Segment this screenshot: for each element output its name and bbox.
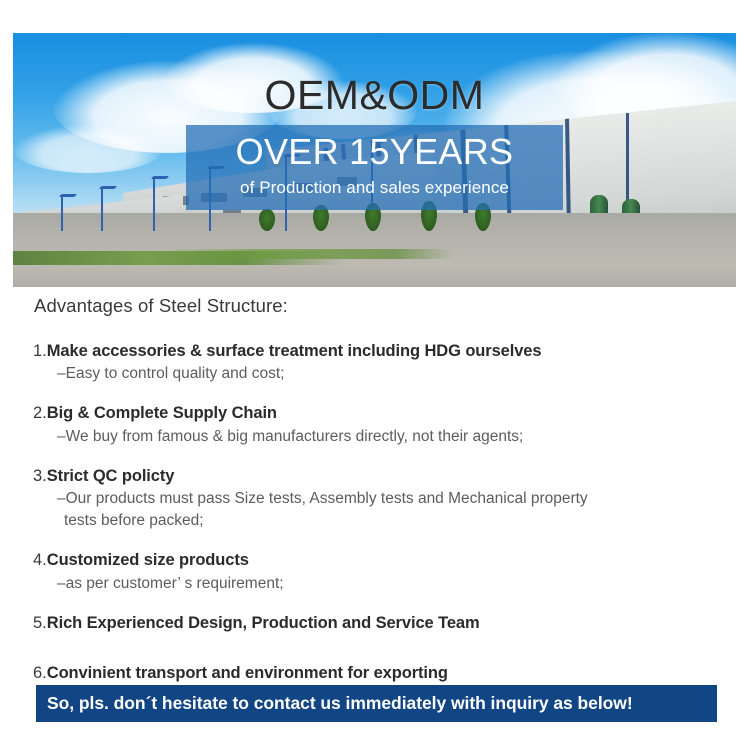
advantage-number: 6. [33,664,47,682]
grass-strip [163,249,453,259]
advantage-label: Customized size products [47,551,249,569]
hero-panel-headline: OVER 15YEARS [186,133,563,172]
list-item: 2.Big & Complete Supply Chain –We buy fr… [0,401,750,447]
advantage-title-row: 6.Convinient transport and environment f… [33,661,750,685]
advantage-title-row: 3.Strict QC policty [33,464,750,488]
advantage-subtext: –We buy from famous & big manufacturers … [57,426,750,448]
cloud-shape [13,125,163,173]
advantage-label: Strict QC policty [47,467,175,485]
contact-call-to-action-bar: So, pls. don´t hesitate to contact us im… [36,685,717,722]
advantage-number: 5. [33,614,47,632]
list-item: 4.Customized size products –as per custo… [0,548,750,594]
street-lamp [101,189,103,231]
advantage-title-row: 5.Rich Experienced Design, Production an… [33,611,750,635]
hero-headline: OEM&ODM [13,75,736,116]
hero-blue-panel: OVER 15YEARS of Production and sales exp… [186,125,563,210]
advantage-label: Big & Complete Supply Chain [47,404,277,422]
advantage-label: Make accessories & surface treatment inc… [47,342,542,360]
advantages-section: Advantages of Steel Structure: 1.Make ac… [0,295,750,711]
advantage-number: 3. [33,467,47,485]
advantage-title-row: 4.Customized size products [33,548,750,572]
list-item: 5.Rich Experienced Design, Production an… [0,611,750,635]
street-lamp [153,179,155,231]
hero-banner: OEM&ODM OVER 15YEARS of Production and s… [13,33,736,287]
advantage-number: 1. [33,342,47,360]
steel-structure-advantages-page: { "hero": { "headline": "OEM&ODM", "pane… [0,0,750,746]
advantage-number: 4. [33,551,47,569]
contact-call-to-action-text: So, pls. don´t hesitate to contact us im… [47,693,633,714]
list-item: 3.Strict QC policty –Our products must p… [0,464,750,532]
advantage-subtext: –Easy to control quality and cost; [57,363,750,385]
advantage-subtext-continued: tests before packed; [64,510,750,532]
advantage-subtext: –Our products must pass Size tests, Asse… [57,488,750,510]
advantage-subtext: –as per customer’ s requirement; [57,573,750,595]
tree [259,209,275,231]
advantage-label: Rich Experienced Design, Production and … [47,614,480,632]
advantage-label: Convinient transport and environment for… [47,664,448,682]
advantage-title-row: 2.Big & Complete Supply Chain [33,401,750,425]
advantage-number: 2. [33,404,47,422]
street-lamp [61,197,63,231]
advantage-title-row: 1.Make accessories & surface treatment i… [33,339,750,363]
advantages-list: 1.Make accessories & surface treatment i… [0,339,750,707]
hero-panel-subline: of Production and sales experience [186,178,563,198]
page-title: Advantages of Steel Structure: [34,295,750,317]
list-item: 1.Make accessories & surface treatment i… [0,339,750,385]
